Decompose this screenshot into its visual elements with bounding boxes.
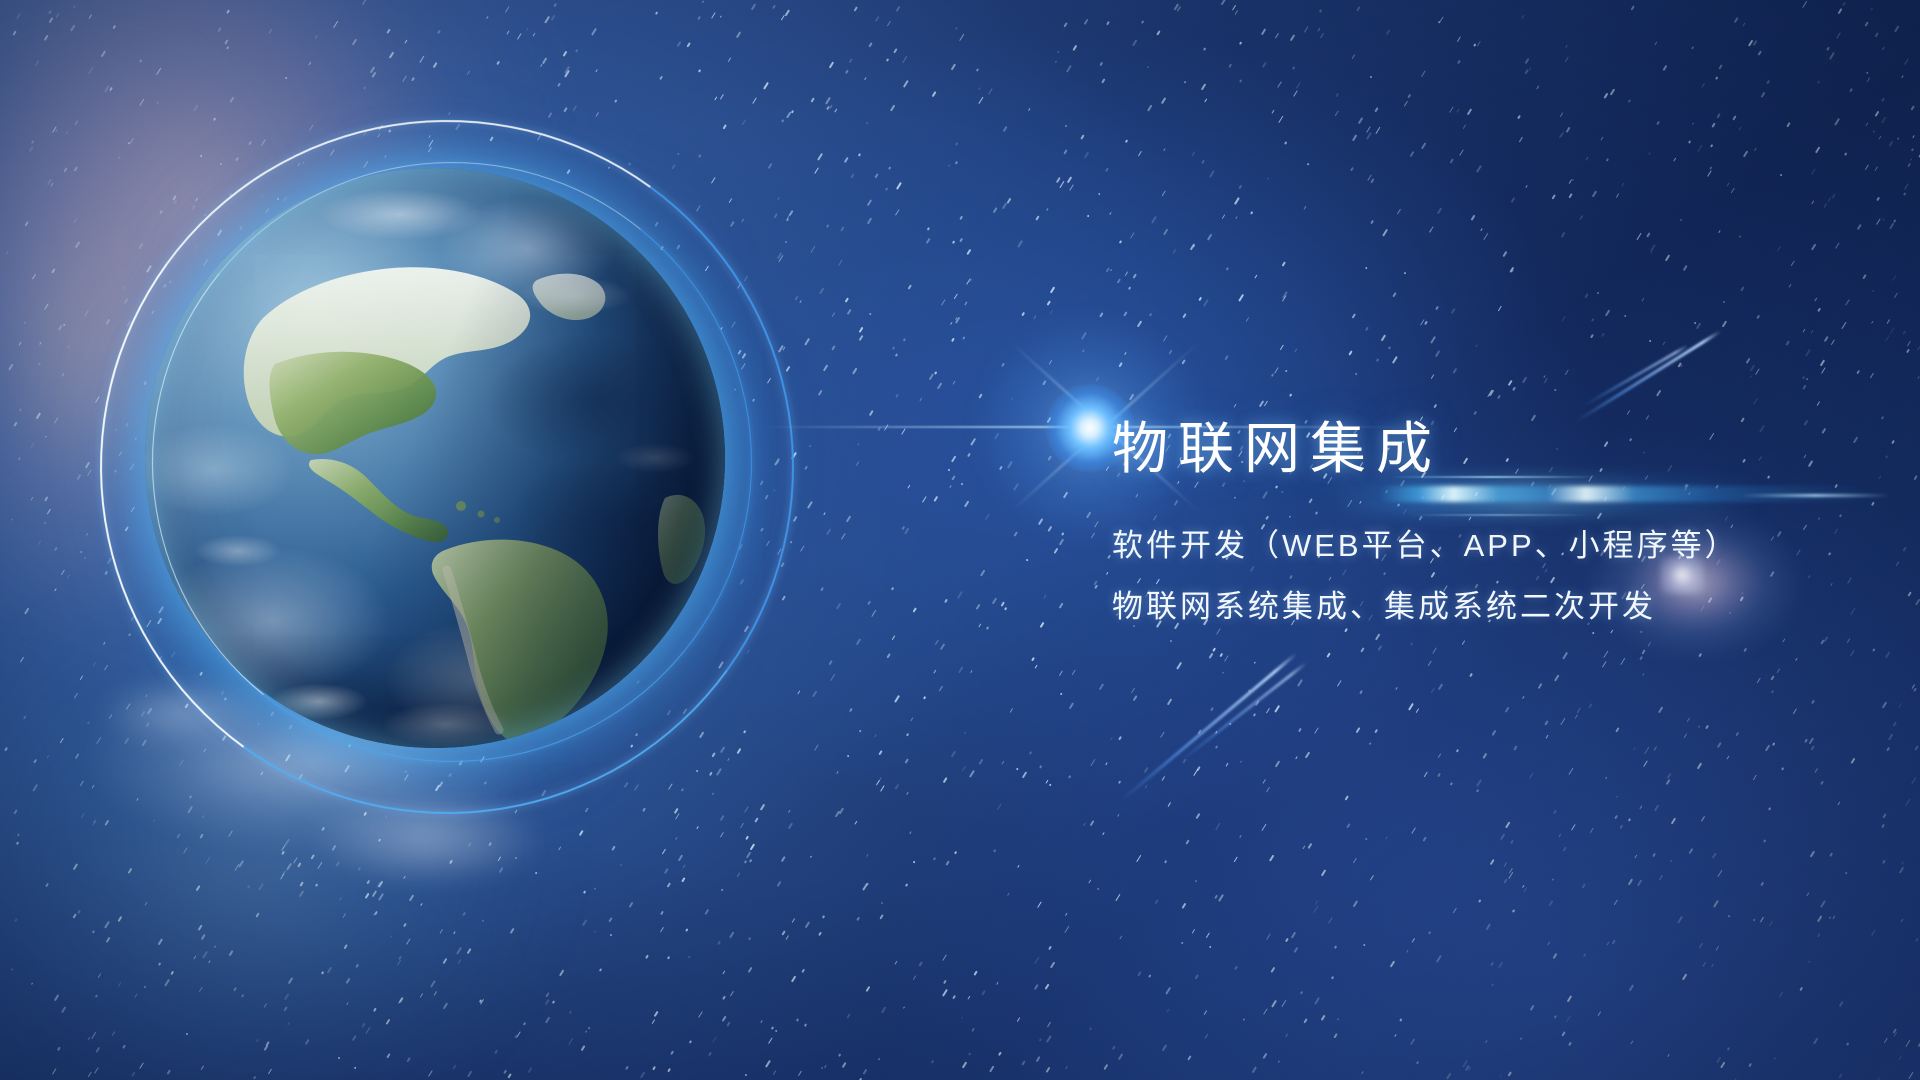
globe-sphere (145, 168, 725, 748)
banner-text-block: 物联网集成 软件开发（WEB平台、APP、小程序等） 物联网系统集成、集成系统二… (1112, 418, 1739, 622)
light-streak-far-right (1740, 494, 1890, 497)
globe-rim-light (145, 168, 725, 748)
subtitle-line-1: 软件开发（WEB平台、APP、小程序等） (1112, 530, 1739, 561)
subtitle-line-2: 物联网系统集成、集成系统二次开发 (1112, 591, 1739, 622)
banner-stage: 物联网集成 软件开发（WEB平台、APP、小程序等） 物联网系统集成、集成系统二… (0, 0, 1920, 1080)
earth-globe (145, 168, 725, 748)
page-title: 物联网集成 (1112, 418, 1739, 480)
